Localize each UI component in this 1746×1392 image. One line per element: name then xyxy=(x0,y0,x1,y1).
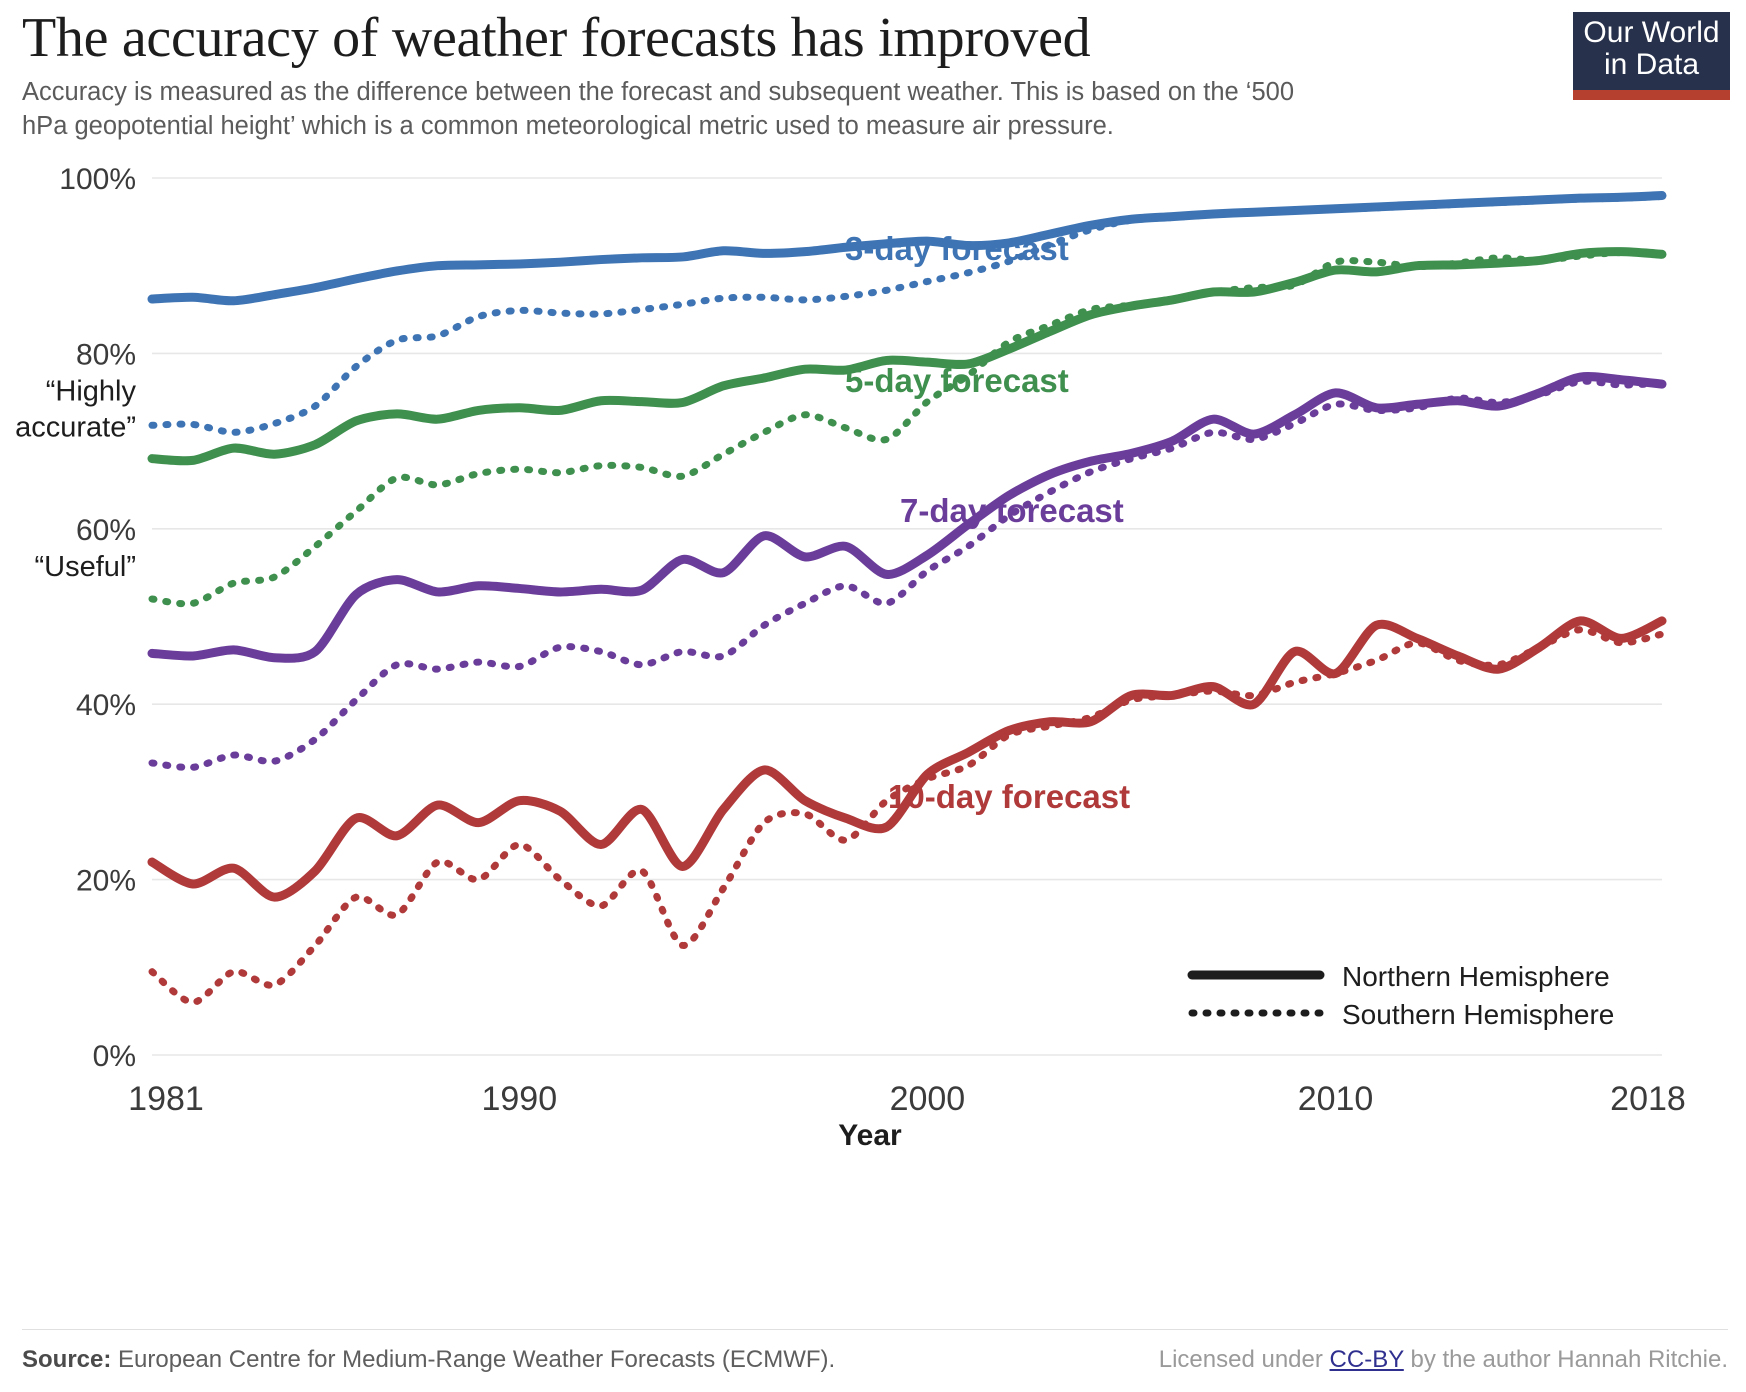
x-axis-tick-label: 2018 xyxy=(1610,1080,1686,1118)
x-axis-tick-label: 2000 xyxy=(890,1080,966,1118)
series-line-5-day-forecast-northern xyxy=(152,252,1662,461)
legend-label: Southern Hemisphere xyxy=(1342,999,1614,1030)
series-label-3-day-forecast: 3-day forecast xyxy=(845,230,1069,267)
license-note: Licensed under CC-BY by the author Hanna… xyxy=(1159,1346,1728,1374)
logo-box: Our World in Data xyxy=(1573,12,1730,90)
y-axis-tick-label: 20% xyxy=(76,865,136,898)
page-title: The accuracy of weather forecasts has im… xyxy=(22,8,1502,68)
chart-legend: Northern HemisphereSouthern Hemisphere xyxy=(1192,961,1614,1030)
y-axis-tick-label: 60% xyxy=(76,514,136,547)
y-axis-labels: 0%20%40%60%“Useful”80%“Highlyaccurate”10… xyxy=(15,163,136,1073)
series-line-5-day-forecast-southern xyxy=(152,253,1662,604)
source-note: Source: European Centre for Medium-Range… xyxy=(22,1346,835,1374)
our-world-in-data-logo[interactable]: Our World in Data xyxy=(1573,12,1730,100)
footer-divider xyxy=(22,1329,1728,1330)
x-axis-tick-label: 1990 xyxy=(481,1080,557,1118)
chart-plot-area: 0%20%40%60%“Useful”80%“Highlyaccurate”10… xyxy=(0,160,1746,1160)
chart-page: The accuracy of weather forecasts has im… xyxy=(0,0,1746,1392)
y-axis-annotation: accurate” xyxy=(15,411,136,443)
chart-footer: Source: European Centre for Medium-Range… xyxy=(22,1346,1728,1374)
data-series-group xyxy=(152,196,1662,1003)
line-chart: 0%20%40%60%“Useful”80%“Highlyaccurate”10… xyxy=(0,160,1746,1170)
chart-subtitle: Accuracy is measured as the difference b… xyxy=(22,76,1332,144)
y-axis-annotation: “Useful” xyxy=(34,551,136,583)
cc-by-link[interactable]: CC-BY xyxy=(1330,1346,1404,1373)
series-line-10-day-forecast-northern xyxy=(152,621,1662,897)
y-axis-tick-label: 40% xyxy=(76,689,136,722)
logo-line-1: Our World xyxy=(1579,17,1724,49)
series-label-5-day-forecast: 5-day forecast xyxy=(845,362,1069,399)
x-axis-tick-label: 2010 xyxy=(1298,1080,1374,1118)
y-axis-tick-label: 100% xyxy=(59,163,136,196)
series-line-10-day-forecast-southern xyxy=(152,630,1662,1003)
series-label-10-day-forecast: 10-day forecast xyxy=(888,778,1130,815)
x-axis-tick-label: 1981 xyxy=(128,1080,204,1118)
y-axis-tick-label: 0% xyxy=(93,1040,136,1073)
y-axis-annotation: “Highly xyxy=(46,375,137,407)
source-text: European Centre for Medium-Range Weather… xyxy=(118,1346,835,1373)
x-axis-title: Year xyxy=(838,1119,902,1152)
gridlines xyxy=(152,178,1662,1055)
logo-line-2: in Data xyxy=(1579,49,1724,81)
y-axis-tick-label: 80% xyxy=(76,338,136,371)
series-label-7-day-forecast: 7-day forecast xyxy=(900,492,1124,529)
logo-accent-bar xyxy=(1573,90,1730,100)
license-suffix: by the author Hannah Ritchie. xyxy=(1404,1346,1728,1373)
legend-label: Northern Hemisphere xyxy=(1342,961,1610,992)
series-line-7-day-forecast-southern xyxy=(152,381,1662,767)
source-label: Source: xyxy=(22,1346,111,1373)
x-axis-labels: 19811990200020102018 xyxy=(128,1080,1686,1118)
chart-header: The accuracy of weather forecasts has im… xyxy=(22,8,1502,144)
license-prefix: Licensed under xyxy=(1159,1346,1330,1373)
